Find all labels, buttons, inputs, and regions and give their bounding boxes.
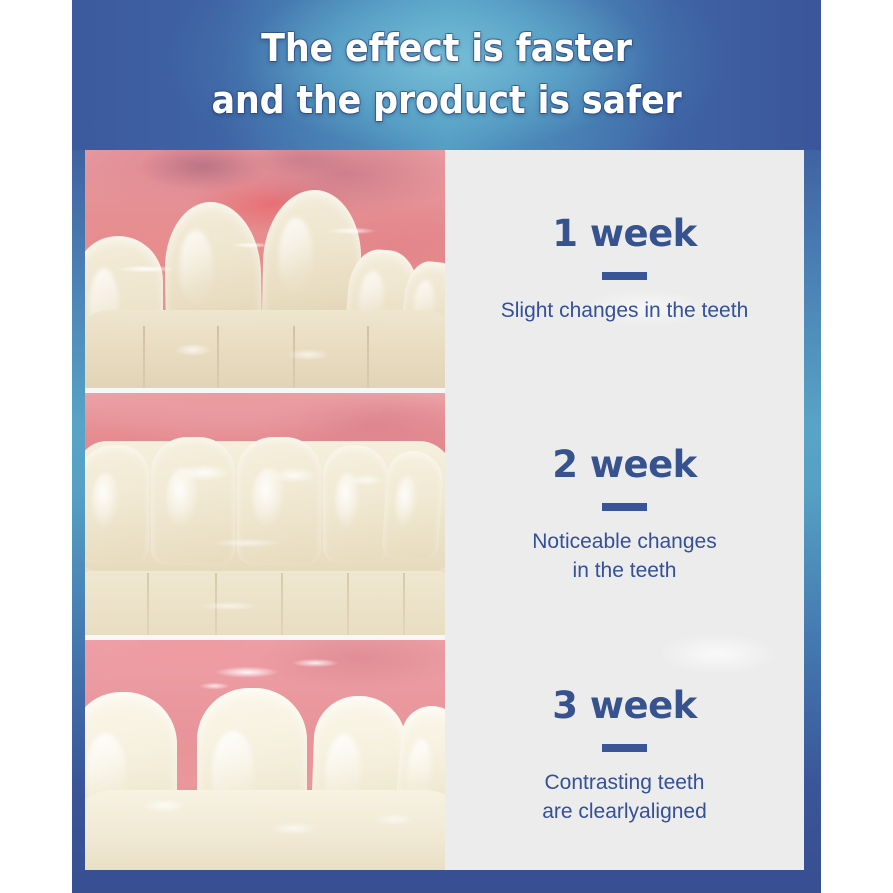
page-title: The effect is faster and the product is … xyxy=(102,22,791,126)
teeth-photo-week-1 xyxy=(85,150,445,388)
caption-week-3: 3 week Contrasting teeth are clearlyalig… xyxy=(445,640,804,870)
description-line: Contrasting teeth xyxy=(545,771,705,794)
caption-week-2: 2 week Noticeable changes in the teeth xyxy=(445,393,804,635)
description-line: are clearlyaligned xyxy=(542,800,707,823)
results-list: 1 week Slight changes in the teeth xyxy=(85,150,804,870)
specular-highlight-layer xyxy=(85,640,445,870)
divider-bar xyxy=(602,744,647,752)
description-line: Slight changes in the teeth xyxy=(501,299,749,322)
week-description: Noticeable changes in the teeth xyxy=(532,527,716,585)
results-card: 1 week Slight changes in the teeth xyxy=(85,150,804,870)
description-line: Noticeable changes xyxy=(532,530,716,553)
result-row-week-2: 2 week Noticeable changes in the teeth xyxy=(85,393,804,635)
description-line: in the teeth xyxy=(573,559,677,582)
week-title: 3 week xyxy=(552,685,697,727)
specular-highlight-layer xyxy=(85,393,445,635)
headline-line-2: and the product is safer xyxy=(102,74,791,126)
caption-week-1: 1 week Slight changes in the teeth xyxy=(445,150,804,388)
divider-bar xyxy=(602,272,647,280)
result-row-week-1: 1 week Slight changes in the teeth xyxy=(85,150,804,388)
headline-line-1: The effect is faster xyxy=(102,22,791,74)
divider-bar xyxy=(602,503,647,511)
week-title: 2 week xyxy=(552,444,697,486)
week-title: 1 week xyxy=(552,213,697,255)
specular-highlight-layer xyxy=(85,150,445,388)
product-infographic-poster: The effect is faster and the product is … xyxy=(0,0,893,893)
week-description: Slight changes in the teeth xyxy=(501,296,749,325)
teeth-photo-week-3 xyxy=(85,640,445,870)
result-row-week-3: 3 week Contrasting teeth are clearlyalig… xyxy=(85,640,804,870)
teeth-photo-week-2 xyxy=(85,393,445,635)
week-description: Contrasting teeth are clearlyaligned xyxy=(542,768,707,826)
